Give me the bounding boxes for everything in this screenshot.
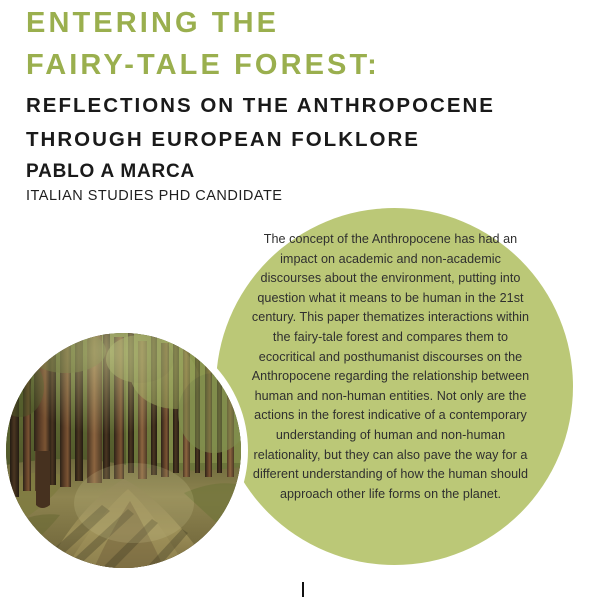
text-caret-mark	[302, 582, 304, 597]
page-subtitle-line-2: THROUGH EUROPEAN FOLKLORE	[26, 126, 586, 154]
forest-path-photo	[6, 333, 241, 568]
page-subtitle-line-1: REFLECTIONS ON THE ANTHROPOCENE	[26, 92, 586, 120]
abstract-text: The concept of the Anthropocene has had …	[248, 230, 533, 504]
forest-photo-illustration	[6, 333, 241, 568]
author-name: PABLO A MARCA	[26, 160, 282, 184]
author-role: ITALIAN STUDIES PHD CANDIDATE	[26, 186, 282, 206]
title-block: ENTERING THE FAIRY-TALE FOREST: REFLECTI…	[26, 2, 586, 154]
page-title-line-1: ENTERING THE	[26, 2, 586, 44]
poster-canvas: ENTERING THE FAIRY-TALE FOREST: REFLECTI…	[0, 0, 600, 600]
page-title-line-2: FAIRY-TALE FOREST:	[26, 44, 586, 86]
author-block: PABLO A MARCA ITALIAN STUDIES PHD CANDID…	[26, 160, 282, 206]
